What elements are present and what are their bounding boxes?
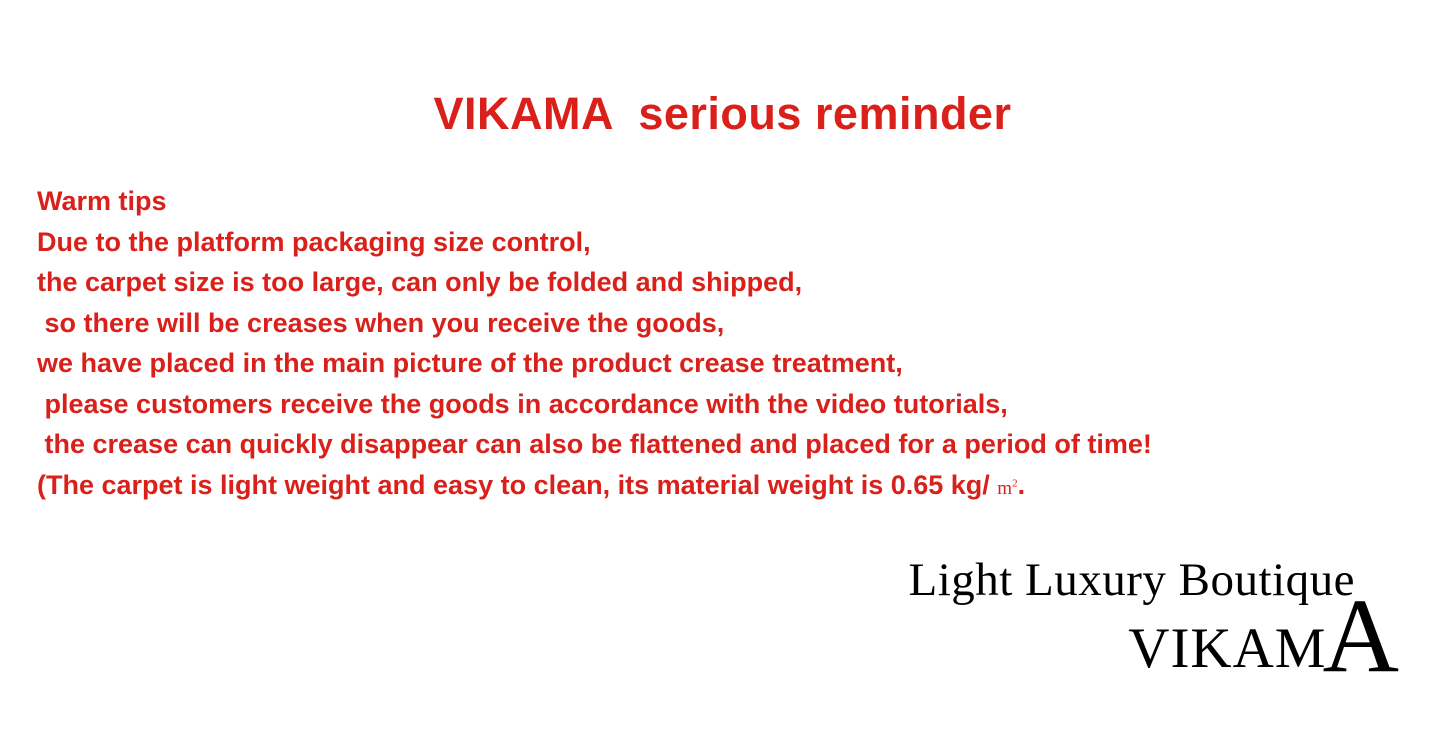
notice-line-8-prefix: (The carpet is light weight and easy to … bbox=[37, 470, 997, 500]
notice-line-2: Due to the platform packaging size contr… bbox=[37, 222, 1437, 263]
poster-canvas: VIKAMA serious reminder Warm tips Due to… bbox=[0, 0, 1445, 736]
brand-name-initial: A bbox=[1322, 605, 1399, 667]
brand-name-main: VIKAM bbox=[1128, 618, 1326, 680]
notice-line-7: the crease can quickly disappear can als… bbox=[37, 424, 1437, 465]
notice-line-5: we have placed in the main picture of th… bbox=[37, 343, 1437, 384]
square-meter-unit: m2 bbox=[997, 478, 1017, 499]
square-meter-symbol: m bbox=[997, 478, 1012, 499]
notice-block: Warm tips Due to the platform packaging … bbox=[37, 181, 1437, 509]
notice-line-1: Warm tips bbox=[37, 181, 1437, 222]
notice-line-8-suffix: . bbox=[1018, 470, 1026, 500]
brand-tagline: Light Luxury Boutique bbox=[908, 552, 1355, 608]
brand-name-row: VIKAMA bbox=[1128, 601, 1399, 680]
page-title: VIKAMA serious reminder bbox=[434, 88, 1012, 140]
notice-line-6: please customers receive the goods in ac… bbox=[37, 384, 1437, 425]
heading-block: VIKAMA serious reminder bbox=[0, 88, 1445, 140]
brand-lockup: Light Luxury Boutique VIKAMA bbox=[0, 552, 1445, 692]
notice-line-4: so there will be creases when you receiv… bbox=[37, 303, 1437, 344]
notice-line-8: (The carpet is light weight and easy to … bbox=[37, 465, 1437, 510]
notice-line-3: the carpet size is too large, can only b… bbox=[37, 262, 1437, 303]
